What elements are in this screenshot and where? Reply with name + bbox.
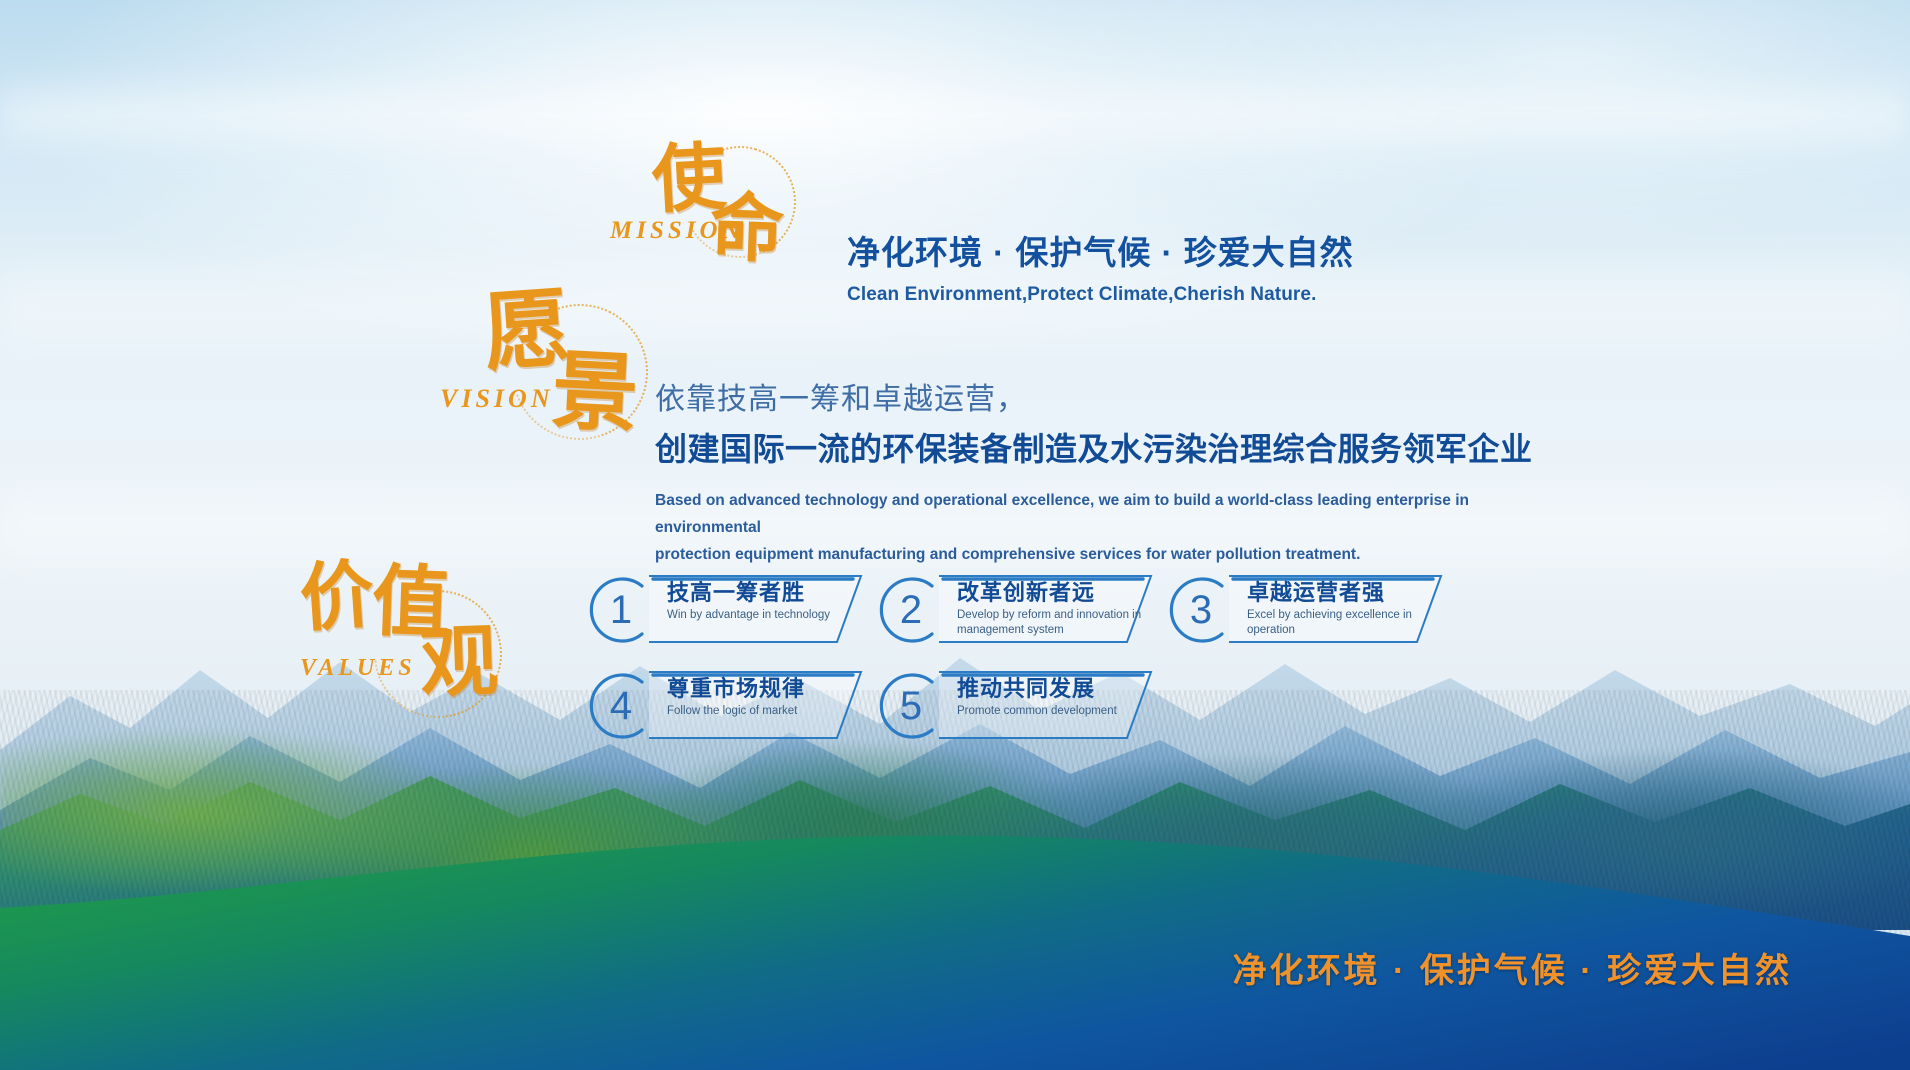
- value-title-en: Excel by achieving excellence in operati…: [1247, 608, 1433, 638]
- value-text: 改革创新者远 Develop by reform and innovation …: [957, 580, 1157, 638]
- vision-text-block: 依靠技高一筹和卓越运营， 创建国际一流的环保装备制造及水污染治理综合服务领军企业…: [655, 380, 1535, 568]
- vision-paragraph-en: Based on advanced technology and operati…: [655, 487, 1535, 568]
- vision-line-1: 依靠技高一筹和卓越运营，: [655, 380, 1535, 421]
- mission-calligraphy-mark: 使 命 MISSION: [610, 140, 810, 280]
- value-text: 推动共同发展 Promote common development: [957, 676, 1157, 719]
- value-title-en: Win by advantage in technology: [667, 608, 853, 623]
- value-text: 尊重市场规律 Follow the logic of market: [667, 676, 867, 719]
- vision-paragraph-en-line-1: Based on advanced technology and operati…: [655, 487, 1535, 541]
- vision-paragraph-en-line-2: protection equipment manufacturing and c…: [655, 541, 1535, 568]
- value-title-cn: 改革创新者远: [957, 580, 1157, 605]
- bottom-gradient-banner: [0, 740, 1910, 1070]
- values-calligraphy-mark: 价 值 观 VALUES: [300, 560, 530, 720]
- mission-text-block: 净化环境 · 保护气候 · 珍爱大自然 Clean Environment,Pr…: [847, 232, 1354, 306]
- value-title-en: Follow the logic of market: [667, 704, 853, 719]
- mission-headline-cn: 净化环境 · 保护气候 · 珍爱大自然: [847, 232, 1354, 273]
- cloud-band: [0, 70, 1910, 160]
- footer-slogan: 净化环境 · 保护气候 · 珍爱大自然: [1233, 943, 1792, 992]
- values-latin-label: VALUES: [300, 656, 416, 680]
- vision-calligraphy-mark: 愿 景 VISION: [440, 288, 670, 453]
- values-grid: 1 技高一筹者胜 Win by advantage in technology …: [585, 570, 1455, 744]
- values-row: 1 技高一筹者胜 Win by advantage in technology …: [585, 570, 1455, 648]
- value-card[interactable]: 3 卓越运营者强 Excel by achieving excellence i…: [1165, 570, 1443, 648]
- value-card[interactable]: 1 技高一筹者胜 Win by advantage in technology: [585, 570, 863, 648]
- value-title-cn: 卓越运营者强: [1247, 580, 1447, 605]
- values-char-3: 观: [419, 623, 500, 704]
- mission-headline-en: Clean Environment,Protect Climate,Cheris…: [847, 284, 1354, 306]
- values-char-1: 价: [298, 558, 377, 637]
- value-title-cn: 技高一筹者胜: [667, 580, 867, 605]
- value-title-cn: 尊重市场规律: [667, 676, 867, 701]
- value-card[interactable]: 4 尊重市场规律 Follow the logic of market: [585, 666, 863, 744]
- vision-latin-label: VISION: [440, 386, 554, 412]
- value-text: 技高一筹者胜 Win by advantage in technology: [667, 580, 867, 623]
- value-title-en: Promote common development: [957, 704, 1143, 719]
- value-title-cn: 推动共同发展: [957, 676, 1157, 701]
- value-card[interactable]: 2 改革创新者远 Develop by reform and innovatio…: [875, 570, 1153, 648]
- value-card[interactable]: 5 推动共同发展 Promote common development: [875, 666, 1153, 744]
- vision-char-2: 景: [550, 348, 640, 438]
- value-title-en: Develop by reform and innovation in mana…: [957, 608, 1143, 638]
- mission-latin-label: MISSION: [610, 218, 744, 243]
- values-row: 4 尊重市场规律 Follow the logic of market 5: [585, 666, 1455, 744]
- poster-root: 净化环境 · 保护气候 · 珍爱大自然 使 命 MISSION 净化环境 · 保…: [0, 0, 1910, 1070]
- vision-line-2: 创建国际一流的环保装备制造及水污染治理综合服务领军企业: [655, 429, 1535, 471]
- value-text: 卓越运营者强 Excel by achieving excellence in …: [1247, 580, 1447, 638]
